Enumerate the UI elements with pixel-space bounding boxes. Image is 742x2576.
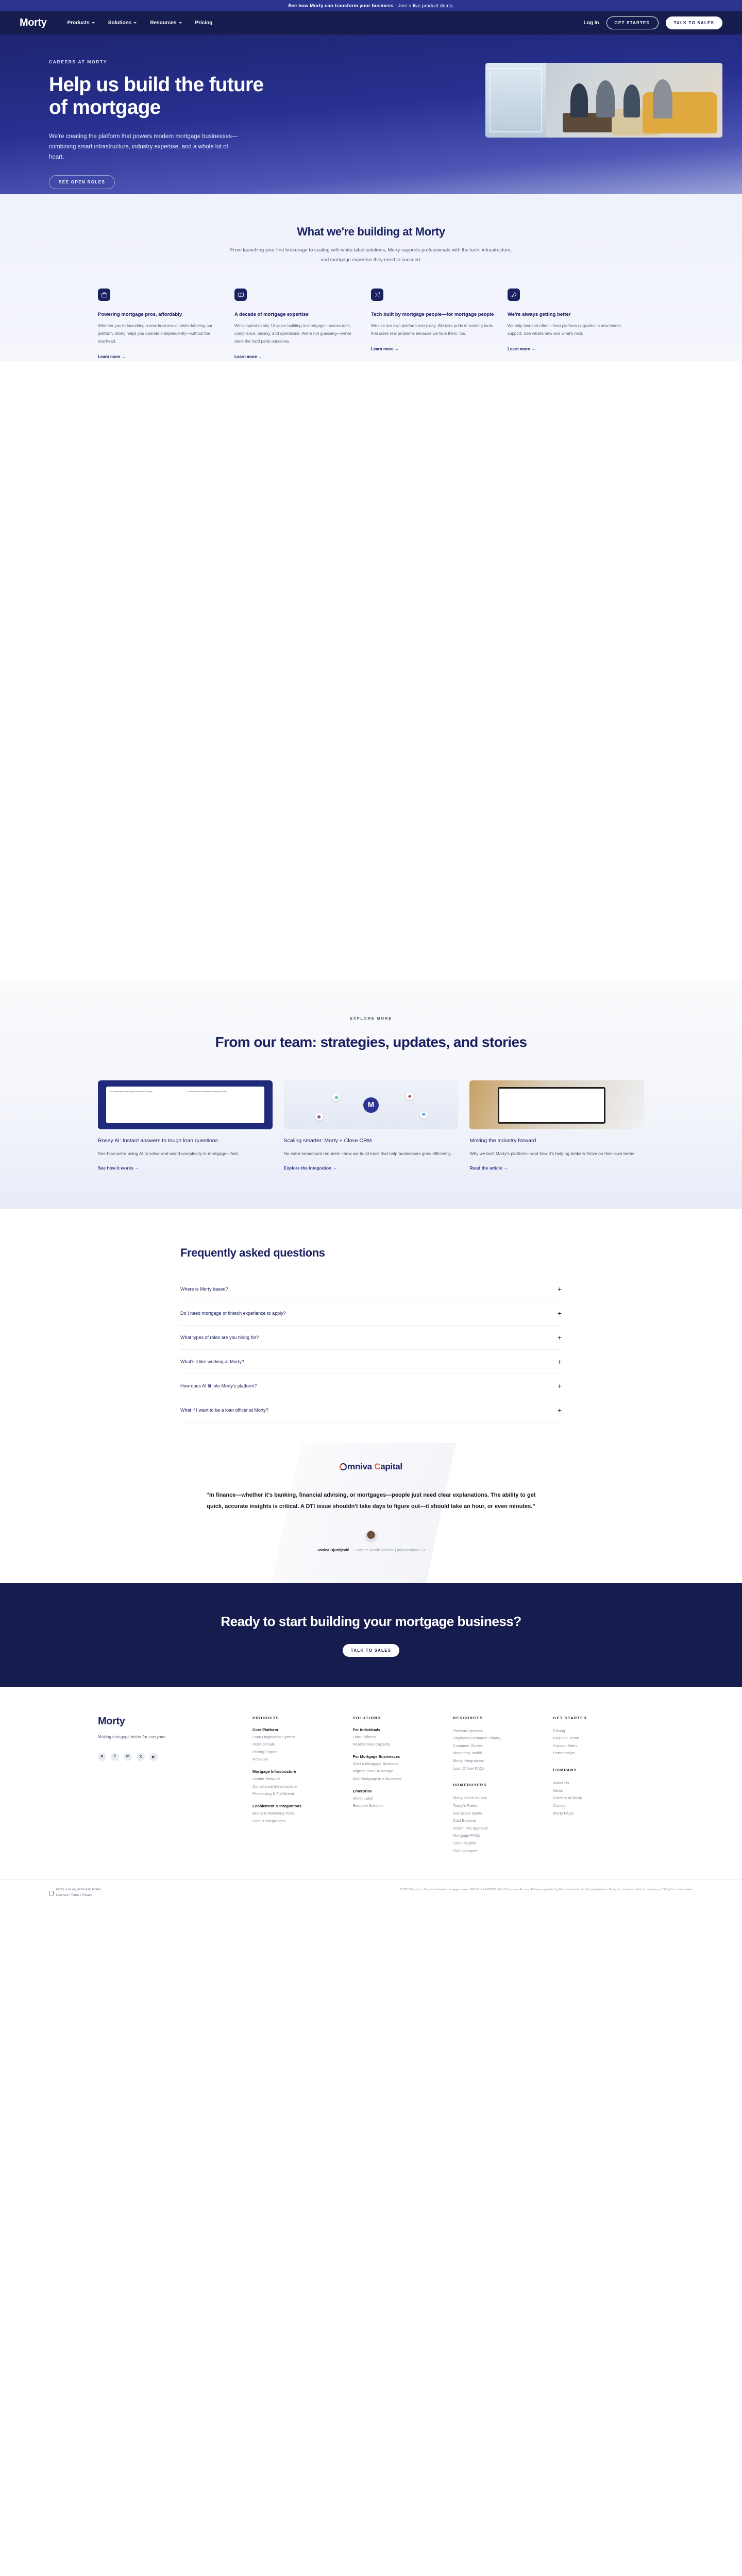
article-body: Why we built Morty's platform—and how it…: [469, 1150, 644, 1158]
nav-item-resources[interactable]: Resources: [150, 20, 181, 26]
integration-dot-blue: ✉: [420, 1111, 428, 1118]
photo-person: [596, 80, 615, 117]
equal-housing-block: Morty is an equal housing lender License…: [49, 1887, 101, 1899]
footer-link[interactable]: Mortgage FAQs: [453, 1832, 544, 1840]
hero-section: CAREERS AT MORTY Help us build the futur…: [0, 35, 742, 194]
footer-link[interactable]: Add Mortgage to a Business: [353, 1775, 444, 1783]
plus-icon[interactable]: +: [558, 1285, 562, 1293]
footer-link[interactable]: Bespoke Solution: [353, 1802, 444, 1810]
brand-prefix: mniva: [347, 1462, 374, 1471]
footer: Morty Making mortgage better for everyon…: [0, 1687, 742, 1906]
laptop-photo: [469, 1080, 644, 1129]
footer-link[interactable]: Morty Integrations: [453, 1757, 544, 1765]
feature-body: Whether you're launching a new business …: [98, 322, 221, 346]
footer-column-head: GET STARTED: [553, 1716, 645, 1720]
hero-title: Help us build the future of mortgage: [49, 74, 265, 119]
plus-icon[interactable]: +: [558, 1310, 562, 1317]
panel-col: Hd investment purchases using to future …: [109, 1090, 184, 1120]
building-title: What we're building at Morty: [0, 225, 742, 239]
brand-accent-letter: C: [374, 1462, 380, 1471]
hero-body: We're creating the platform that powers …: [49, 131, 241, 162]
footer-link[interactable]: Morty FAQs: [553, 1810, 645, 1818]
faq-question: What types of roles are you hiring for?: [180, 1335, 259, 1340]
testimonial-quote: “In finance—whether it's banking, financ…: [201, 1489, 541, 1513]
article-card-close-crm[interactable]: ◎ ◆ ◉ ✉ M Scaling smarter: Morty + Close…: [284, 1080, 459, 1172]
footer-link[interactable]: Data & Integrations: [252, 1818, 344, 1825]
author-role: Former wealth advisor | Independent LO: [356, 1548, 425, 1552]
footer-link[interactable]: Pricing Engine: [252, 1749, 344, 1756]
footer-group-title: Core Platform: [252, 1727, 344, 1732]
author-name: Jovica Djurdjević: [317, 1548, 349, 1552]
blank-content-area: [0, 361, 742, 979]
footer-link[interactable]: Brand & Marketing Tools: [252, 1810, 344, 1818]
footer-column-resources: RESOURCES Platform Updates Originator Re…: [453, 1716, 544, 1855]
footer-link[interactable]: Customer Stories: [453, 1742, 544, 1750]
footer-link[interactable]: Loan Officer FAQs: [453, 1765, 544, 1773]
footer-link[interactable]: Processing & Fulfillment: [252, 1790, 344, 1798]
faq-question: Do I need mortgage or fintech experience…: [180, 1311, 286, 1316]
nav-item-resources-label: Resources: [150, 20, 176, 26]
learn-more-link[interactable]: Learn more →: [508, 347, 535, 351]
footer-link[interactable]: Careers at Morty: [553, 1794, 645, 1802]
footer-link[interactable]: Find an expert: [453, 1848, 544, 1855]
footer-link[interactable]: Cost Explorer: [453, 1817, 544, 1825]
footer-link[interactable]: Compliance Infrastructure: [252, 1783, 344, 1791]
footer-group-title: Enterprise: [353, 1789, 444, 1793]
book-icon: [234, 289, 247, 301]
faq-question: How does AI fit into Morty's platform?: [180, 1383, 257, 1388]
photo-window: [485, 63, 546, 138]
feature-body: We've spent nearly 10 years building in …: [234, 322, 358, 346]
faq-item[interactable]: Do I need mortgage or fintech experience…: [180, 1301, 562, 1326]
footer-link[interactable]: Rosey AI: [252, 1756, 344, 1764]
article-title: Rosey AI: Instant answers to tough loan …: [98, 1137, 273, 1145]
live-product-demo-link[interactable]: live product demo.: [413, 3, 453, 9]
footer-link[interactable]: Loan Origination System: [252, 1734, 344, 1741]
footer-column-solutions: SOLUTIONS For Individuals Loan Officers …: [353, 1716, 444, 1855]
social-links: ◙ f in 𝕏 ▶: [98, 1753, 252, 1761]
tools-icon: [371, 289, 383, 301]
article-title: Moving the industry forward: [469, 1137, 644, 1145]
footer-group-title: For Mortgage Businesses: [353, 1754, 444, 1759]
article-title: Scaling smarter: Morty + Close CRM: [284, 1137, 459, 1145]
announcement-strong: See how Morty can transform your busines…: [288, 3, 393, 9]
nav-item-solutions-label: Solutions: [108, 20, 132, 26]
footer-link[interactable]: Interactive Quote: [453, 1810, 544, 1818]
facebook-icon[interactable]: f: [111, 1753, 119, 1761]
learn-more-link[interactable]: Learn more →: [234, 354, 262, 359]
cta-talk-to-sales-button[interactable]: TALK TO SALES: [343, 1644, 399, 1657]
nav-item-products-label: Products: [67, 20, 89, 26]
equal-housing-icon: [49, 1891, 54, 1895]
footer-link[interactable]: Morty Home School: [453, 1794, 544, 1802]
footer-link[interactable]: Request Demo: [553, 1735, 645, 1742]
panel-col: For last sequential anomalies with stron…: [187, 1090, 261, 1120]
footer-link[interactable]: Loan Insights: [453, 1840, 544, 1848]
footer-group-title: Enablement & Integrations: [252, 1804, 344, 1808]
explore-eyebrow: EXPLORE MORE: [0, 1016, 742, 1021]
faq-title: Frequently asked questions: [180, 1246, 562, 1260]
integration-dot-red: ◆: [406, 1092, 414, 1100]
nav-item-products[interactable]: Products: [67, 20, 94, 26]
article-card-industry-forward[interactable]: Moving the industry forward Why we built…: [469, 1080, 644, 1172]
feature-title: Powering mortgage pros, affordably: [98, 311, 221, 319]
faq-item[interactable]: How does AI fit into Morty's platform? +: [180, 1374, 562, 1398]
footer-link[interactable]: Point-of-Sale: [252, 1741, 344, 1749]
footer-link[interactable]: Originator Resource Library: [453, 1735, 544, 1742]
footer-link[interactable]: White Label: [353, 1795, 444, 1803]
footer-columns: PRODUCTS Core Platform Loan Origination …: [252, 1716, 644, 1855]
omniva-ring-icon: [340, 1463, 347, 1470]
learn-more-link[interactable]: Learn more →: [371, 347, 399, 351]
footer-link[interactable]: Marketing Toolkit: [453, 1750, 544, 1757]
screenshot-panel: Hd investment purchases using to future …: [106, 1087, 264, 1123]
article-cards: Hd investment purchases using to future …: [49, 1080, 693, 1172]
nav-item-pricing-label: Pricing: [195, 20, 213, 26]
cta-section: Ready to start building your mortgage bu…: [0, 1583, 742, 1687]
footer-group-title: For Individuals: [353, 1727, 444, 1732]
footer-brand: Morty Making mortgage better for everyon…: [98, 1716, 252, 1855]
nav-links: Products Solutions Resources Pricing: [67, 20, 212, 26]
explore-title: From our team: strategies, updates, and …: [0, 1033, 742, 1052]
laptop-screen: [498, 1087, 606, 1123]
nav-item-solutions[interactable]: Solutions: [108, 20, 137, 26]
integration-dot-purple: ◉: [315, 1113, 323, 1121]
morty-hub-icon: M: [363, 1097, 379, 1113]
footer-link[interactable]: News: [553, 1787, 645, 1795]
footer-logo[interactable]: Morty: [98, 1716, 252, 1727]
footer-link[interactable]: Migrate Your Brokerage: [353, 1768, 444, 1775]
article-link[interactable]: Explore the integration →: [284, 1165, 337, 1171]
footer-link[interactable]: Instant Pre-approval: [453, 1825, 544, 1833]
building-subtitle: From launching your first brokerage to s…: [227, 246, 515, 265]
footer-column-head: PRODUCTS: [252, 1716, 344, 1720]
footer-column-head: RESOURCES: [453, 1716, 544, 1720]
chevron-down-icon: [179, 22, 182, 24]
article-card-rosey-ai[interactable]: Hd investment purchases using to future …: [98, 1080, 273, 1172]
testimonial-section: mniva Capital “In finance—whether it's b…: [0, 1443, 742, 1583]
youtube-icon[interactable]: ▶: [149, 1753, 158, 1761]
footer-link[interactable]: Loan Officers: [353, 1734, 444, 1741]
photo-person: [653, 79, 672, 118]
feature-title: Tech built by mortgage people—for mortga…: [371, 311, 494, 319]
integration-dot-green: ◎: [332, 1093, 340, 1101]
article-body: No extra headcount required—how we build…: [284, 1150, 459, 1158]
footer-link[interactable]: Contact Sales: [553, 1742, 645, 1750]
feature-card-affordability: Powering mortgage pros, affordably Wheth…: [98, 289, 234, 361]
footer-link[interactable]: Realtor Dual Capacity: [353, 1741, 444, 1749]
article-link[interactable]: Read the article →: [469, 1165, 508, 1171]
testimonial-attribution: Jovica Djurdjević·Former wealth advisor …: [0, 1530, 742, 1552]
faq-question: Where is Morty based?: [180, 1286, 228, 1292]
legal-disclaimer: © 2025 Morty, Inc. Morty is a licensed m…: [400, 1887, 693, 1892]
footer-bottom: Morty is an equal housing lender License…: [0, 1879, 742, 1906]
feature-card-improvement: We're always getting better We ship fast…: [508, 289, 644, 361]
equal-housing-text: Morty is an equal housing lender: [56, 1888, 101, 1891]
article-body: See how we're using AI to solve real-wor…: [98, 1150, 273, 1158]
avatar: [365, 1530, 377, 1543]
feature-grid: Powering mortgage pros, affordably Wheth…: [49, 289, 693, 361]
feature-card-expertise: A decade of mortgage expertise We've spe…: [234, 289, 371, 361]
footer-link[interactable]: Start a Mortgage Business: [353, 1760, 444, 1768]
footer-link[interactable]: About Us: [553, 1780, 645, 1787]
see-open-roles-button[interactable]: SEE OPEN ROLES: [49, 175, 115, 189]
footer-column-get-started: GET STARTED Pricing Request Demo Contact…: [553, 1716, 645, 1855]
feature-body: We use our own platform every day. We ta…: [371, 322, 494, 337]
footer-column-head-company: COMPANY: [553, 1768, 645, 1772]
briefcase-icon: [98, 289, 110, 301]
nav-actions: Log In GET STARTED TALK TO SALES: [584, 16, 722, 29]
what-were-building-section: What we're building at Morty From launch…: [0, 194, 742, 979]
photo-person: [623, 84, 640, 117]
main-navigation: Morty Products Solutions Resources Prici…: [0, 11, 742, 35]
hero-photo: [485, 63, 722, 138]
footer-column-products: PRODUCTS Core Platform Loan Origination …: [252, 1716, 344, 1855]
integration-diagram: ◎ ◆ ◉ ✉ M: [284, 1080, 459, 1129]
faq-item[interactable]: What if I want to be a loan officer at M…: [180, 1398, 562, 1422]
footer-link[interactable]: Partnerships: [553, 1750, 645, 1757]
feature-title: A decade of mortgage expertise: [234, 311, 358, 319]
chevron-down-icon: [133, 22, 137, 24]
omniva-capital-logo: mniva Capital: [0, 1462, 742, 1472]
footer-column-head: SOLUTIONS: [353, 1716, 444, 1720]
announcement-rest: - Join a: [395, 3, 411, 9]
faq-section: Frequently asked questions Where is Mort…: [0, 1209, 742, 1443]
talk-to-sales-button[interactable]: TALK TO SALES: [666, 16, 722, 29]
nav-item-pricing[interactable]: Pricing: [195, 20, 213, 26]
instagram-icon[interactable]: ◙: [98, 1753, 106, 1761]
faq-question: What's it like working at Morty?: [180, 1359, 244, 1364]
faq-question: What if I want to be a loan officer at M…: [180, 1408, 268, 1413]
policy-links[interactable]: Licenses / Terms / Privacy: [56, 1894, 92, 1897]
footer-link[interactable]: Contact: [553, 1802, 645, 1810]
explore-more-section: EXPLORE MORE From our team: strategies, …: [0, 979, 742, 1209]
rocket-icon: [508, 289, 520, 301]
faq-item[interactable]: What's it like working at Morty? +: [180, 1350, 562, 1374]
plus-icon[interactable]: +: [558, 1406, 562, 1414]
footer-tagline: Making mortgage better for everyone.: [98, 1735, 252, 1739]
morty-logo[interactable]: Morty: [20, 17, 46, 29]
log-in-link[interactable]: Log In: [584, 20, 599, 26]
plus-icon[interactable]: +: [558, 1358, 562, 1365]
feature-card-tech: Tech built by mortgage people—for mortga…: [371, 289, 508, 361]
linkedin-icon[interactable]: in: [124, 1753, 132, 1761]
photo-person: [570, 83, 588, 117]
cta-title: Ready to start building your mortgage bu…: [0, 1613, 742, 1631]
faq-item[interactable]: Where is Morty based? +: [180, 1277, 562, 1301]
footer-link[interactable]: Today's Rates: [453, 1802, 544, 1810]
footer-link[interactable]: Platform Updates: [453, 1727, 544, 1735]
separator: ·: [352, 1548, 353, 1552]
feature-body: We ship fast and often—from platform upg…: [508, 322, 631, 337]
footer-column-head-homebuyers: HOMEBUYERS: [453, 1783, 544, 1787]
faq-item[interactable]: What types of roles are you hiring for? …: [180, 1326, 562, 1350]
feature-title: We're always getting better: [508, 311, 631, 319]
plus-icon[interactable]: +: [558, 1382, 562, 1389]
footer-link[interactable]: Lender Network: [252, 1775, 344, 1783]
learn-more-link[interactable]: Learn more →: [98, 354, 126, 359]
chevron-down-icon: [92, 22, 95, 24]
rosey-ai-screenshot: Hd investment purchases using to future …: [98, 1080, 273, 1129]
article-link[interactable]: See how it works →: [98, 1165, 139, 1171]
footer-link[interactable]: Pricing: [553, 1727, 645, 1735]
brand-suffix: apital: [380, 1462, 402, 1471]
announcement-bar[interactable]: See how Morty can transform your busines…: [0, 0, 742, 11]
footer-group-title: Mortgage Infrastructure: [252, 1769, 344, 1774]
get-started-button[interactable]: GET STARTED: [606, 16, 659, 29]
x-icon[interactable]: 𝕏: [137, 1753, 145, 1761]
plus-icon[interactable]: +: [558, 1334, 562, 1341]
